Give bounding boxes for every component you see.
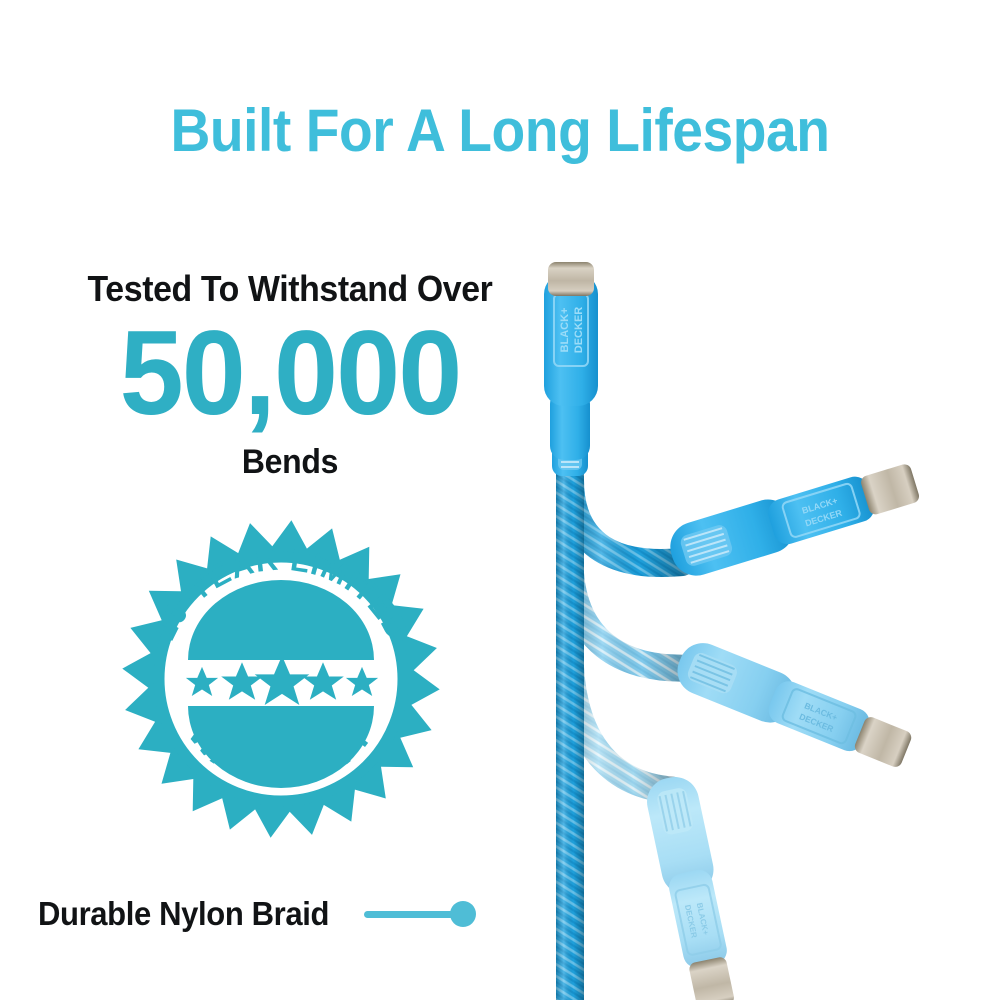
stat-unit-label: Bends (55, 442, 525, 482)
callout-leader-dot (450, 901, 476, 927)
stat-top-label: Tested To Withstand Over (55, 268, 525, 310)
brand-emboss-text-line1: BLACK+ (559, 308, 571, 353)
cable-branch-ghost-1 (570, 480, 682, 563)
infographic-canvas: Built For A Long Lifespan Tested To With… (0, 0, 1000, 1000)
page-title: Built For A Long Lifespan (40, 96, 960, 166)
durability-stat-block: Tested To Withstand Over 50,000 Bends (40, 268, 540, 482)
connector-ghost-1: BLACK+ DECKER (664, 456, 923, 582)
callout-leader-line (364, 911, 456, 918)
connector-ghost-3: BLACK+ DECKER (643, 773, 743, 1000)
stat-number-value: 50,000 (50, 314, 530, 432)
usb-c-metal-tip (688, 956, 735, 1000)
brand-emboss-text-line2: DECKER (573, 307, 585, 354)
callout-label: Durable Nylon Braid (38, 895, 329, 933)
callout-durable-nylon-braid: Durable Nylon Braid (38, 888, 476, 940)
warranty-badge: 10-YEAR LIMITED WARRANTY (116, 520, 446, 838)
connector-ghost-2: BLACK+ DECKER (670, 636, 916, 776)
usb-c-metal-tip (548, 262, 594, 296)
connector-main-top: BLACK+ DECKER (544, 262, 598, 476)
product-image-usb-c-cable: BLACK+ DECKER BLACK+ DECKER (500, 230, 1000, 1000)
